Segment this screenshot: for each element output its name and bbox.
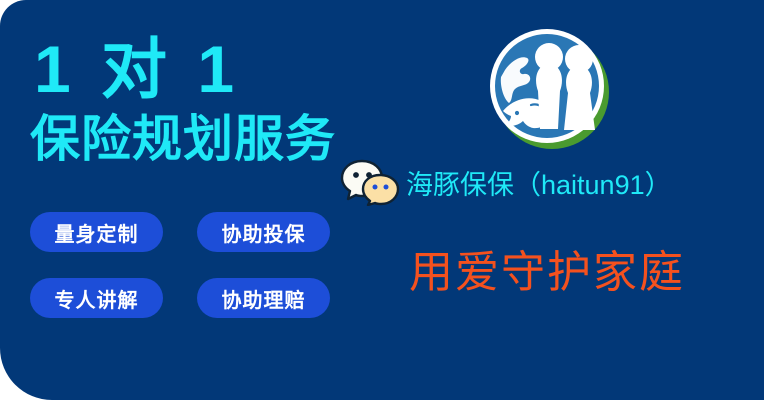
feature-tag-row: 专人讲解 协助理赔 [30,278,340,318]
dolphin-globe-logo [487,25,611,151]
feature-tag-custom[interactable]: 量身定制 [30,212,163,252]
wechat-icon [340,158,402,206]
feature-tag-expert-explain[interactable]: 专人讲解 [30,278,163,318]
headline-secondary: 保险规划服务 [30,110,336,168]
promo-banner: 1 对 1 保险规划服务 量身定制 协助投保 专人讲解 协助理赔 [0,0,764,400]
feature-tag-grid: 量身定制 协助投保 专人讲解 协助理赔 [30,212,340,344]
feature-tag-claim-help[interactable]: 协助理赔 [197,278,330,318]
right-content-column: 海豚保保（haitun91） 用爱守护家庭 [335,0,764,400]
headline-primary: 1 对 1 [34,33,240,105]
wechat-id-text: 海豚保保（haitun91） [406,163,672,202]
left-content-column: 1 对 1 保险规划服务 量身定制 协助投保 专人讲解 协助理赔 [0,0,360,400]
slogan-text: 用爱守护家庭 [409,248,685,298]
feature-tag-apply-help[interactable]: 协助投保 [197,212,330,252]
wechat-contact-line[interactable]: 海豚保保（haitun91） [340,158,672,206]
feature-tag-row: 量身定制 协助投保 [30,212,340,252]
